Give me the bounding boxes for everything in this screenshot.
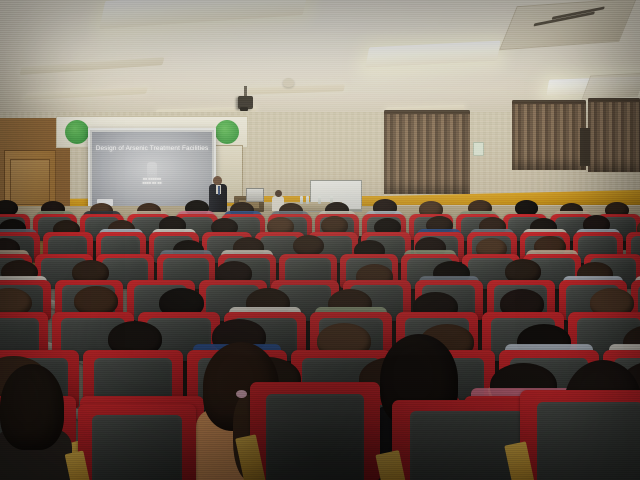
window-curtain-3 [588, 100, 640, 172]
assistant-head [275, 190, 282, 197]
presenter-head [213, 176, 222, 185]
slide-subtitle: · · · ■■ ■■■■■■ ■■■■ ■■ ■■ [92, 172, 212, 186]
presenter [209, 176, 227, 212]
presenter-tie [218, 186, 220, 195]
audience-member-left-edge [0, 364, 64, 450]
seat-back [92, 415, 182, 480]
smoke-detector-icon [283, 78, 294, 87]
presenter-monitor [246, 188, 264, 202]
water-bottle-3 [318, 196, 321, 204]
banner-circle-left [65, 120, 89, 144]
audience-seating [0, 214, 640, 480]
projector-lens-icon [240, 107, 248, 111]
foreground-audience [0, 214, 640, 480]
window-gap [580, 128, 590, 166]
projected-slide: Design of Arsenic Treatment Facilities ·… [92, 132, 212, 210]
ceiling-air-vent-2 [582, 73, 640, 100]
seat-back [266, 394, 365, 480]
slide-title: Design of Arsenic Treatment Facilities [92, 145, 212, 152]
lecture-hall-photo: Design of Arsenic Treatment Facilities ·… [0, 0, 640, 480]
water-bottle-1 [300, 196, 303, 204]
slide-subtitle-line-3: ■■■■ ■■ ■■ [92, 181, 212, 186]
water-bottle-2 [306, 196, 309, 204]
door-panel-top [10, 159, 50, 205]
seat-back [537, 402, 640, 480]
light-switch[interactable] [473, 142, 484, 156]
window-curtain-1 [384, 112, 470, 194]
window-curtain-2 [512, 102, 586, 170]
banner-circle-right [215, 120, 239, 144]
